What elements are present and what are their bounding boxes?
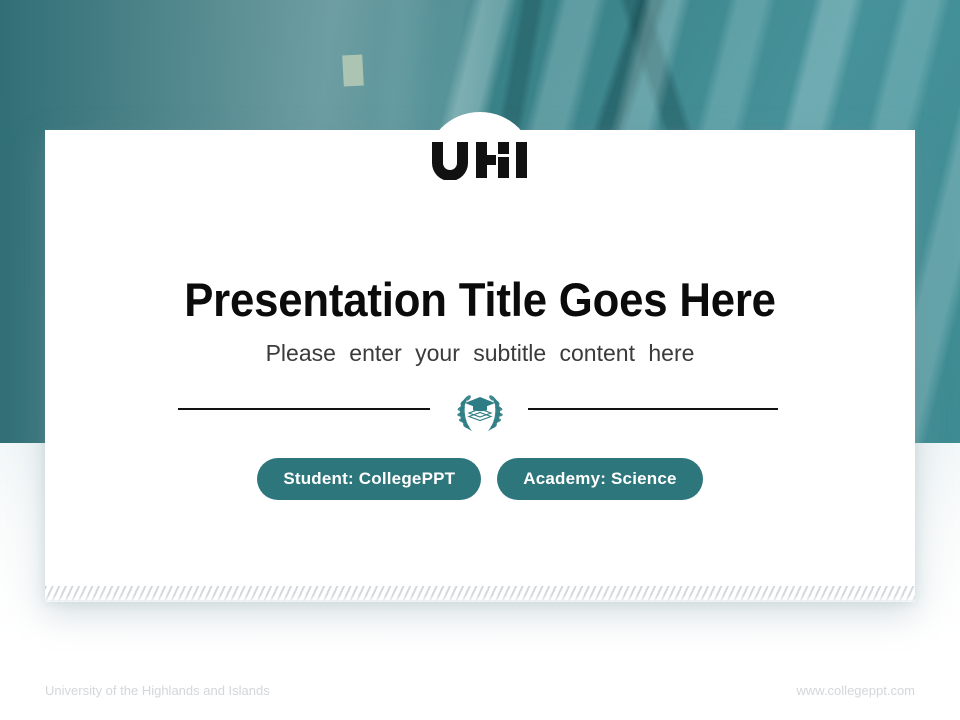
hatched-strip-fade <box>45 586 915 602</box>
photo-sign-detail <box>342 54 364 86</box>
slide-title: Presentation Title Goes Here <box>34 272 927 327</box>
meta-pill-row: Student: CollegePPT Academy: Science <box>0 458 960 500</box>
pill-academy[interactable]: Academy: Science <box>497 458 702 500</box>
pill-student[interactable]: Student: CollegePPT <box>257 458 481 500</box>
footer-website[interactable]: www.collegeppt.com <box>797 683 916 698</box>
uhi-logo <box>430 140 530 180</box>
footer-institution: University of the Highlands and Islands <box>45 683 270 698</box>
divider-line-right <box>528 408 778 410</box>
slide-subtitle: Please enter your subtitle content here <box>0 340 960 367</box>
presentation-slide: Presentation Title Goes Here Please ente… <box>0 0 960 720</box>
graduation-cap-laurel-emblem <box>453 388 507 434</box>
divider-line-left <box>178 408 430 410</box>
